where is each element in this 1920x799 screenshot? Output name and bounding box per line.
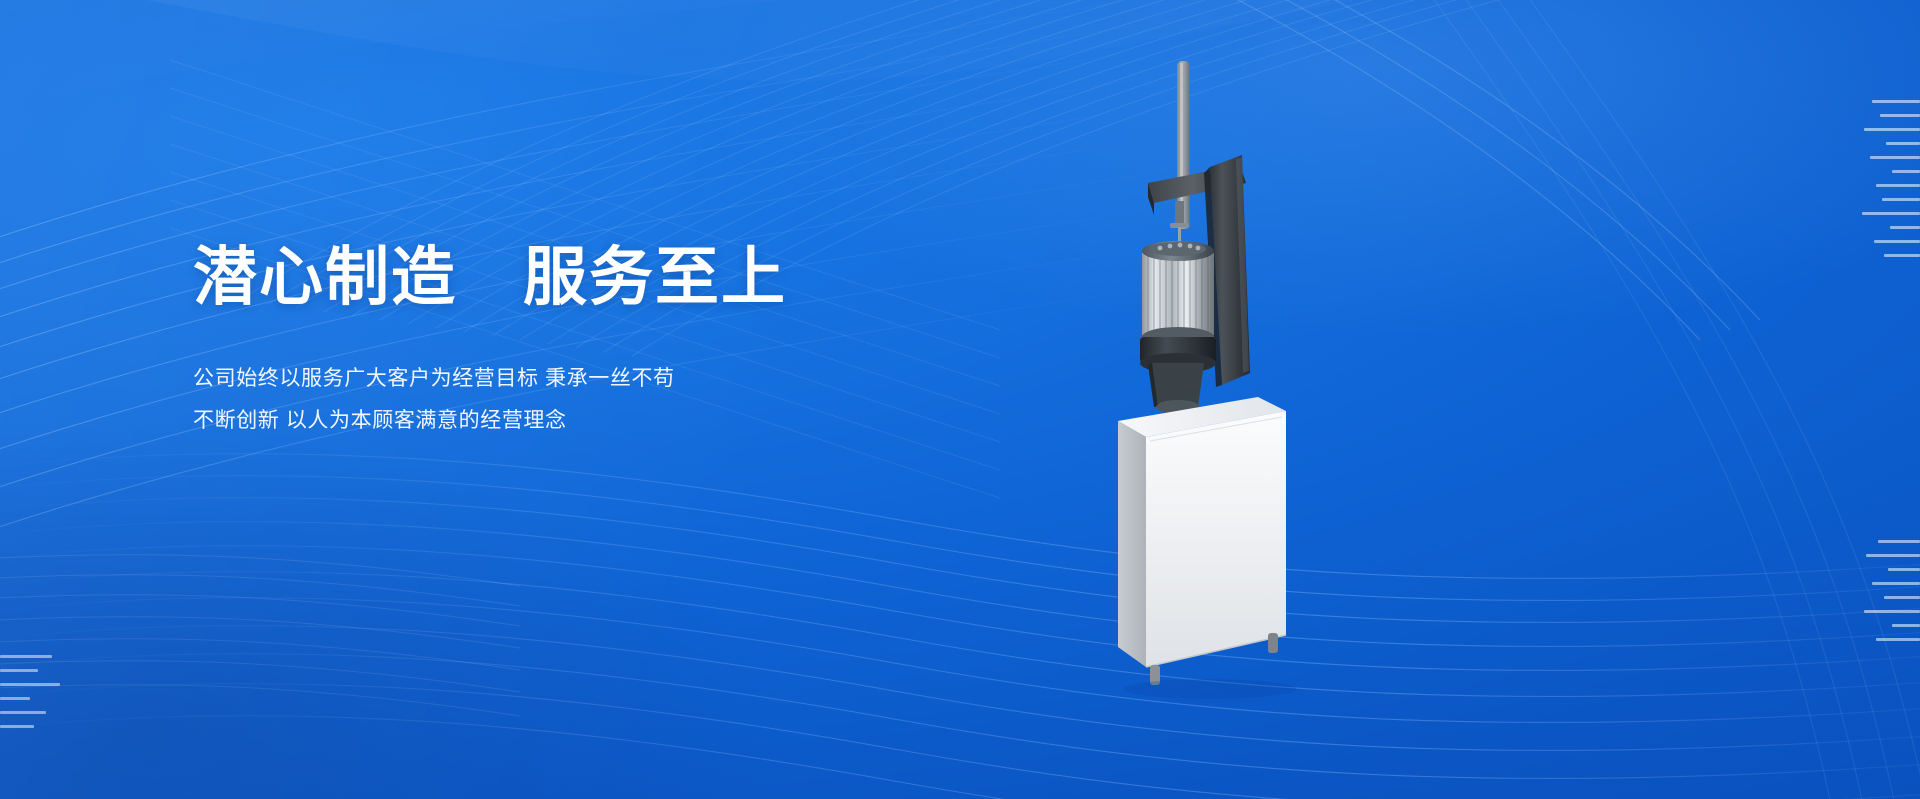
hero-subtitle-line-2: 不断创新 以人为本顾客满意的经营理念 <box>193 400 953 442</box>
decorative-tick-ruler-left-bottom <box>0 655 60 739</box>
page-title: 潜心制造 服务至上 <box>193 240 953 316</box>
hero-subtitle: 公司始终以服务广大客户为经营目标 秉承一丝不苟 不断创新 以人为本顾客满意的经营… <box>193 316 953 442</box>
hero-subtitle-line-1: 公司始终以服务广大客户为经营目标 秉承一丝不苟 <box>193 358 953 400</box>
product-machine-image <box>1090 55 1320 795</box>
decorative-tick-ruler-right-bottom <box>1864 540 1920 652</box>
decorative-tick-ruler-right-top <box>1862 100 1920 268</box>
banner-hero: 潜心制造 服务至上 公司始终以服务广大客户为经营目标 秉承一丝不苟 不断创新 以… <box>0 0 1920 799</box>
hero-copy-block: 潜心制造 服务至上 公司始终以服务广大客户为经营目标 秉承一丝不苟 不断创新 以… <box>193 240 953 442</box>
